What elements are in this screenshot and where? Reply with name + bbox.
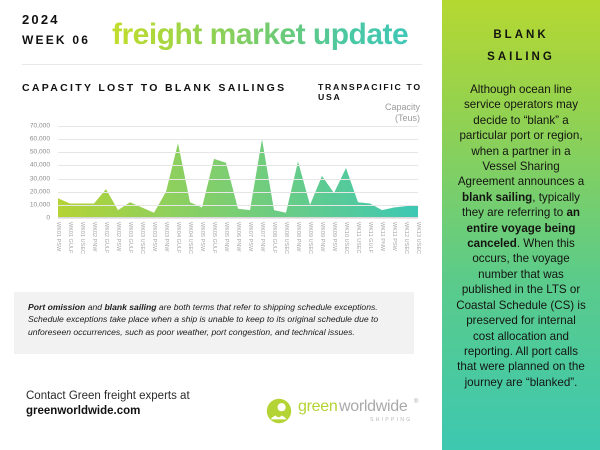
x-axis-tick: WK08 PNW	[295, 222, 301, 252]
logo-word-green: green	[298, 398, 337, 416]
x-axis-tick: WK05 PNW	[223, 222, 229, 252]
x-axis-tick: WK11 PNW	[379, 222, 385, 251]
note-term-blank-sailing: blank sailing	[104, 302, 156, 312]
year-label: 2024	[22, 12, 60, 27]
x-axis-tick: WK03 PNW	[163, 222, 169, 252]
x-axis-tick: WK10 USEC	[343, 222, 349, 254]
chart-plot-area	[58, 126, 418, 218]
x-axis-tick: WK02 PSW	[115, 222, 121, 251]
y-axis-tick: 70,000	[0, 123, 50, 130]
x-axis-tick: WK01 PSW	[55, 222, 61, 251]
contact-text: Contact Green freight experts at	[26, 390, 190, 402]
logo-tagline: SHIPPING	[370, 417, 412, 423]
sidebar-notch	[432, 0, 442, 62]
x-axis-tick: WK06 PNW	[235, 222, 241, 252]
x-axis-tick: WK13 USEC	[415, 222, 421, 254]
x-axis-tick: WK04 USEC	[187, 222, 193, 254]
grid-line	[58, 205, 418, 206]
x-axis-tick: WK05 GULF	[211, 222, 217, 253]
sidebar-title-line-2: SAILING	[454, 46, 588, 68]
page-title: freight market update	[112, 18, 408, 52]
definition-note-text: Port omission and blank sailing are both…	[14, 292, 414, 338]
x-axis-tick: WK08 USEC	[283, 222, 289, 254]
grid-line	[58, 179, 418, 180]
x-axis-tick: WK11 PSW	[391, 222, 397, 251]
header: 2024 WEEK 06 freight market update	[0, 0, 442, 68]
header-divider	[22, 64, 422, 65]
x-axis-tick: WK09 PNW	[319, 222, 325, 252]
sidebar-title: BLANK SAILING	[454, 24, 588, 68]
y-axis-tick: 50,000	[0, 149, 50, 156]
y-axis-tick: 60,000	[0, 136, 50, 143]
infographic-page: 2024 WEEK 06 freight market update CAPAC…	[0, 0, 600, 450]
sidebar-title-line-1: BLANK	[454, 24, 588, 46]
y-axis-tick: 40,000	[0, 162, 50, 169]
x-axis-tick: WK05 PSW	[199, 222, 205, 251]
sidebar-text-3: . When this occurs, the voyage number th…	[456, 237, 586, 389]
x-axis-tick: WK11 GULF	[367, 222, 373, 253]
x-axis-tick: WK11 USEC	[355, 222, 361, 254]
logo-registered-mark: ®	[414, 399, 418, 405]
chart-legend: Capacity (Teus)	[350, 102, 420, 124]
sidebar-bold-blank-sailing: blank sailing	[462, 191, 532, 204]
x-axis-tick: WK01 USEC	[79, 222, 85, 254]
legend-line-2: (Teus)	[350, 113, 420, 124]
logo-word-worldwide: worldwide	[339, 398, 407, 416]
week-label: WEEK 06	[22, 33, 90, 47]
x-axis-tick: WK02 GULF	[103, 222, 109, 253]
grid-line	[58, 126, 418, 127]
sidebar-text-1: Although ocean line service operators ma…	[458, 83, 584, 188]
y-axis-tick: 0	[0, 215, 50, 222]
x-axis-tick: WK03 USEC	[139, 222, 145, 254]
sidebar-paragraph: Although ocean line service operators ma…	[454, 82, 588, 390]
x-axis-tick: WK07 PSW	[247, 222, 253, 251]
logo-circle-icon	[266, 398, 292, 424]
x-axis-tick: WK03 PSW	[151, 222, 157, 251]
x-axis-tick: WK03 GULF	[127, 222, 133, 253]
x-axis-labels: WK01 PSWWK01 GULFWK01 USECWK02 PNWWK02 G…	[58, 222, 418, 284]
y-axis-labels: 010,00020,00030,00040,00050,00060,00070,…	[0, 122, 54, 222]
grid-line	[58, 192, 418, 193]
x-axis-tick: WK07 PNW	[259, 222, 265, 252]
contact-website-link[interactable]: greenworldwide.com	[26, 405, 140, 417]
y-axis-tick: 20,000	[0, 188, 50, 195]
grid-line	[58, 152, 418, 153]
grid-line	[58, 165, 418, 166]
x-axis-tick: WK02 PNW	[91, 222, 97, 252]
x-axis-tick: WK09 USEC	[307, 222, 313, 254]
x-axis-tick: WK04 GULF	[175, 222, 181, 253]
note-term-port-omission: Port omission	[28, 302, 85, 312]
y-axis-tick: 30,000	[0, 175, 50, 182]
x-axis-tick: WK01 GULF	[67, 222, 73, 253]
grid-line	[58, 139, 418, 140]
note-conjunction: and	[85, 302, 104, 312]
y-axis-tick: 10,000	[0, 201, 50, 208]
definition-note-box: Port omission and blank sailing are both…	[14, 292, 414, 354]
x-axis-tick: WK09 PSW	[331, 222, 337, 251]
blank-sailing-sidebar: BLANK SAILING Although ocean line servic…	[442, 0, 600, 450]
chart-panel: CAPACITY LOST TO BLANK SAILINGS TRANSPAC…	[0, 72, 442, 282]
grid-line	[58, 218, 418, 219]
legend-line-1: Capacity	[350, 102, 420, 113]
chart-subtitle: TRANSPACIFIC TO USA	[318, 82, 442, 102]
x-axis-tick: WK12 USEC	[403, 222, 409, 254]
chart-title: CAPACITY LOST TO BLANK SAILINGS	[22, 82, 286, 94]
greenworldwide-logo: green worldwide ® SHIPPING	[266, 396, 416, 430]
x-axis-tick: WK08 GULF	[271, 222, 277, 253]
